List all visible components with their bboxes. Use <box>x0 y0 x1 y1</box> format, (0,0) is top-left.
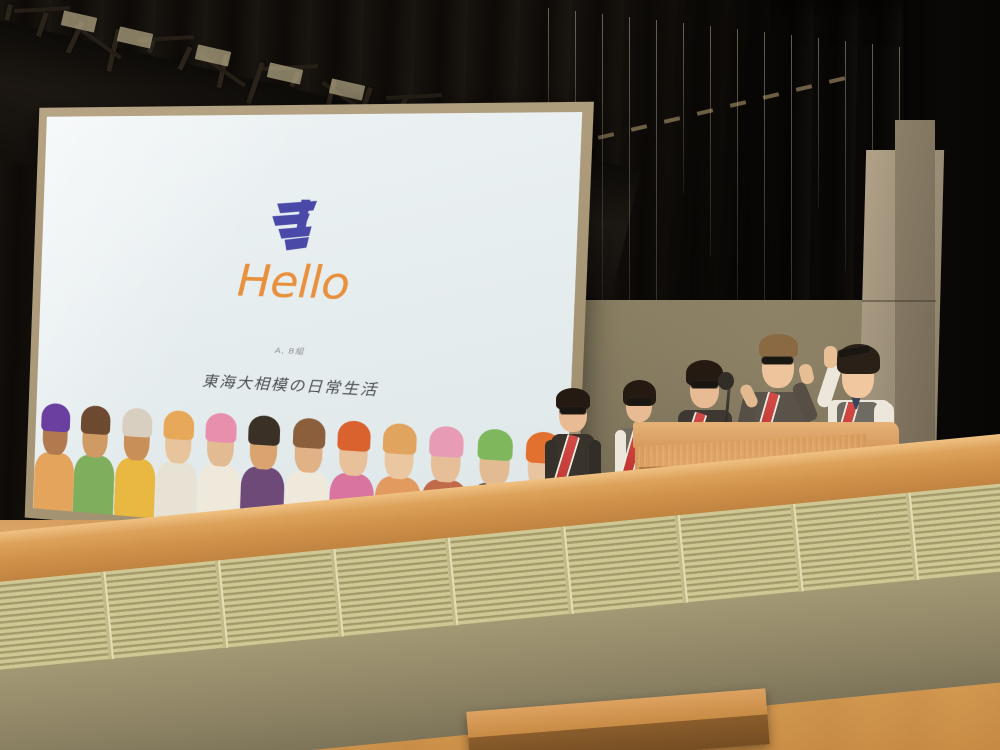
illustration-figure <box>33 403 77 512</box>
hand-left-adjusting-glasses <box>824 346 837 368</box>
figure-hair <box>292 418 325 449</box>
abstract-blue-mark-logo <box>259 197 330 255</box>
figure-hair <box>429 426 464 458</box>
slide-subtitle: A, B組 <box>275 344 305 357</box>
hanging-wire <box>710 26 711 256</box>
figure-hair <box>163 410 194 440</box>
illustration-figure <box>113 407 158 518</box>
sunglasses-icon <box>627 398 652 405</box>
figure-body <box>33 451 74 511</box>
figure-hair <box>122 408 153 438</box>
figure-hair <box>248 415 281 446</box>
hanging-wire <box>845 41 846 271</box>
figure-hair <box>477 429 513 462</box>
hair <box>759 334 798 358</box>
auditorium-stage-photo: Hello A, B組 東海大相模の日常生活 <box>0 0 1000 750</box>
sunglasses-icon <box>560 407 586 414</box>
hanging-wire <box>683 23 684 193</box>
figure-hair <box>81 405 111 435</box>
hanging-wire <box>818 38 819 208</box>
sunglasses-icon <box>762 357 793 364</box>
tan-wall-seam <box>862 300 936 302</box>
figure-hair <box>337 420 371 452</box>
figure-body <box>113 457 156 518</box>
sunglasses-icon <box>691 381 718 388</box>
slide-title: 東海大相模の日常生活 <box>202 370 379 401</box>
figure-hair <box>205 413 237 444</box>
figure-hair <box>383 423 418 455</box>
figure-hair <box>41 403 71 432</box>
figure-body <box>73 454 115 515</box>
hanging-wire <box>602 14 603 304</box>
slide-headline: Hello <box>236 255 350 310</box>
microphone-head-icon <box>718 372 734 390</box>
illustration-figure <box>154 410 200 522</box>
illustration-figure <box>73 405 117 515</box>
hanging-wire <box>737 29 738 319</box>
